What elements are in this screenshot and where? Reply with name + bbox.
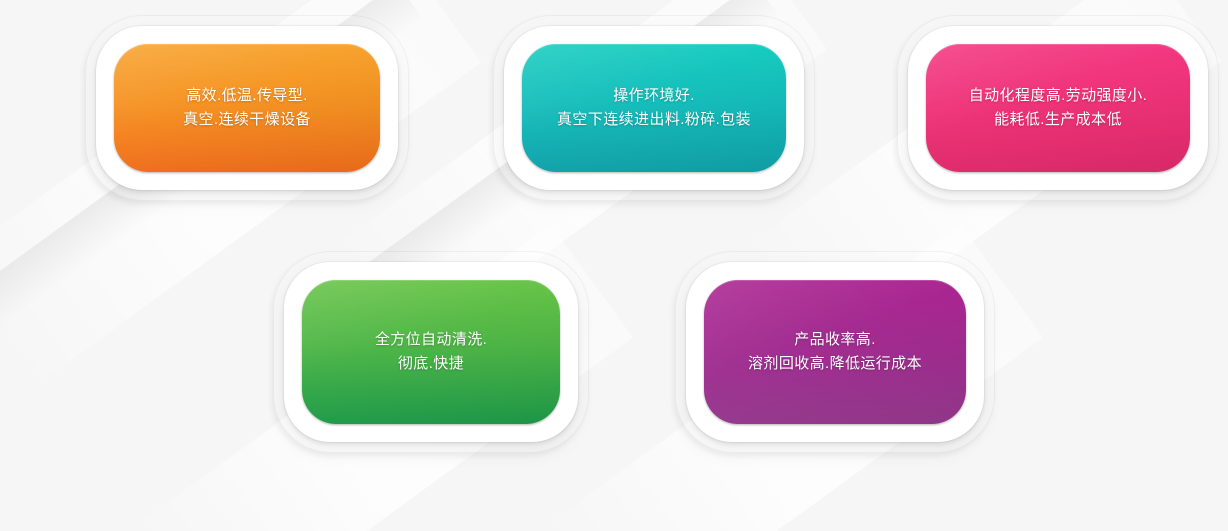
card-text: 全方位自动清洗. 彻底.快捷 (357, 328, 505, 377)
feature-card-product-yield[interactable]: 产品收率高. 溶剂回收高.降低运行成本 (686, 262, 984, 442)
feature-card-auto-cleaning[interactable]: 全方位自动清洗. 彻底.快捷 (284, 262, 578, 442)
card-text: 产品收率高. 溶剂回收高.降低运行成本 (730, 328, 940, 377)
card-body: 操作环境好. 真空下连续进出料.粉碎.包装 (522, 44, 786, 172)
card-body: 全方位自动清洗. 彻底.快捷 (302, 280, 560, 424)
card-text: 高效.低温.传导型. 真空.连续干燥设备 (165, 84, 329, 133)
card-body: 高效.低温.传导型. 真空.连续干燥设备 (114, 44, 380, 172)
card-body: 自动化程度高.劳动强度小. 能耗低.生产成本低 (926, 44, 1190, 172)
feature-card-automation[interactable]: 自动化程度高.劳动强度小. 能耗低.生产成本低 (908, 26, 1208, 190)
slide-canvas: 高效.低温.传导型. 真空.连续干燥设备 操作环境好. 真空下连续进出料.粉碎.… (0, 0, 1228, 531)
feature-card-drying-equipment[interactable]: 高效.低温.传导型. 真空.连续干燥设备 (96, 26, 398, 190)
card-body: 产品收率高. 溶剂回收高.降低运行成本 (704, 280, 966, 424)
card-text: 自动化程度高.劳动强度小. 能耗低.生产成本低 (951, 84, 1166, 133)
feature-card-operating-environment[interactable]: 操作环境好. 真空下连续进出料.粉碎.包装 (504, 26, 804, 190)
card-text: 操作环境好. 真空下连续进出料.粉碎.包装 (539, 84, 769, 133)
